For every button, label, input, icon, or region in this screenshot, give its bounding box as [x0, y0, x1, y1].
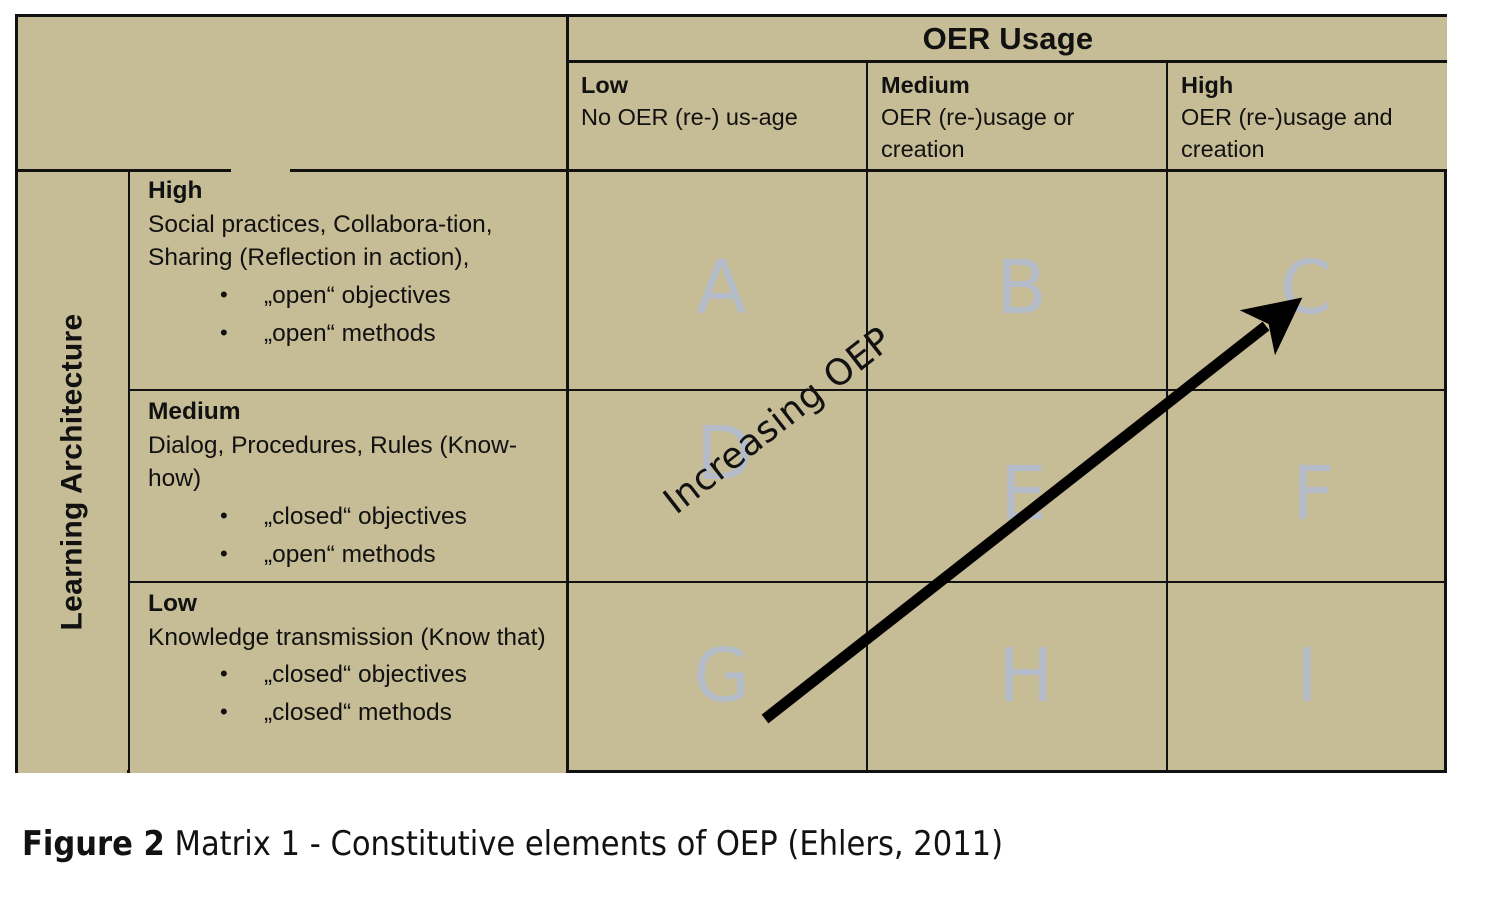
row-header-medium-description: Dialog, Procedures, Rules (Know-how) [148, 429, 561, 496]
matrix-cell-e: E [1000, 457, 1047, 531]
grid-line-vertical [566, 17, 569, 773]
matrix-cell-c: C [1280, 251, 1332, 325]
column-header-low-level: Low [581, 69, 856, 101]
row-header-high: High Social practices, Collabora-tion, S… [130, 170, 569, 388]
list-item: „closed“ methods [220, 694, 561, 732]
grid-line-horizontal [128, 581, 1447, 583]
row-header-high-description: Social practices, Collabora-tion, Sharin… [148, 208, 561, 275]
column-header-medium: Medium OER (re-)usage or creation [869, 63, 1166, 170]
matrix-cell-a: A [696, 251, 747, 325]
matrix-cell-f: F [1292, 457, 1335, 531]
column-axis-title: OER Usage [569, 17, 1447, 60]
matrix-cell-h: H [998, 639, 1054, 713]
row-header-medium-bullets: „closed“ objectives „open“ methods [148, 498, 561, 574]
list-item: „closed“ objectives [220, 656, 561, 694]
grid-line-vertical [1166, 60, 1168, 773]
column-header-high: High OER (re-)usage and creation [1169, 63, 1447, 170]
column-header-low-description: No OER (re-) us-age [581, 101, 856, 133]
matrix-cell-b: B [996, 251, 1047, 325]
row-header-high-level: High [148, 174, 561, 208]
row-header-low: Low Knowledge transmission (Know that) „… [130, 583, 569, 773]
oep-matrix-figure: OER Usage Low No OER (re-) us-age Medium… [15, 14, 1447, 773]
grid-line-vertical [866, 60, 868, 773]
row-axis-title: Learning Architecture [18, 170, 127, 773]
row-header-low-bullets: „closed“ objectives „closed“ methods [148, 656, 561, 732]
row-header-medium: Medium Dialog, Procedures, Rules (Know-h… [130, 391, 569, 583]
column-header-high-level: High [1181, 69, 1437, 101]
list-item: „open“ objectives [220, 277, 561, 315]
list-item: „open“ methods [220, 536, 561, 574]
column-header-high-description: OER (re-)usage and creation [1181, 101, 1437, 165]
grid-line-horizontal [566, 60, 1447, 63]
increasing-oep-label: Increasing OEP [656, 320, 900, 523]
column-header-low: Low No OER (re-) us-age [569, 63, 866, 170]
matrix-cell-i: I [1296, 639, 1318, 713]
grid-line-vertical [128, 169, 130, 773]
row-header-high-bullets: „open“ objectives „open“ methods [148, 277, 561, 353]
row-axis-title-text: Learning Architecture [56, 313, 90, 630]
row-header-low-description: Knowledge transmission (Know that) [148, 621, 561, 655]
list-item: „closed“ objectives [220, 498, 561, 536]
column-header-medium-level: Medium [881, 69, 1156, 101]
row-header-low-level: Low [148, 587, 561, 621]
grid-line-horizontal [18, 169, 231, 172]
grid-line-horizontal [290, 169, 1447, 172]
row-header-medium-level: Medium [148, 395, 561, 429]
figure-caption: Figure 2 Matrix 1 - Constitutive element… [22, 822, 1462, 866]
figure-caption-label: Figure 2 [22, 824, 165, 864]
list-item: „open“ methods [220, 315, 561, 353]
figure-caption-text: Matrix 1 - Constitutive elements of OEP … [175, 824, 1004, 864]
matrix-cell-g: G [693, 639, 750, 713]
column-header-medium-description: OER (re-)usage or creation [881, 101, 1156, 165]
